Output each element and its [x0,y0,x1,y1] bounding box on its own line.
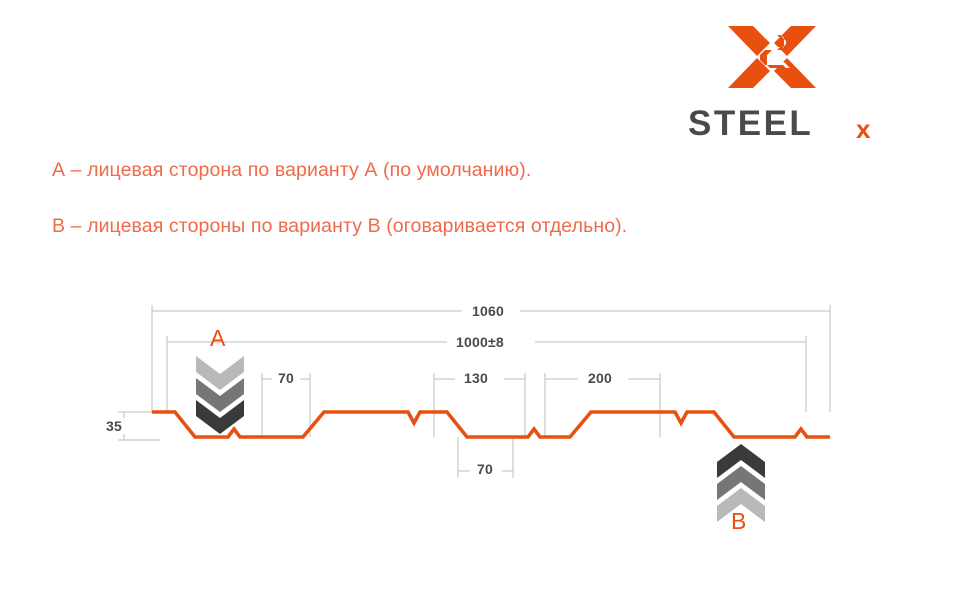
marker-a-letter: А [210,325,225,352]
dimension-label-70-top: 70 [272,370,300,386]
dimension-label-1000: 1000±8 [450,334,510,350]
dimension-label-1060: 1060 [466,303,510,319]
marker-a-chevrons [196,356,244,434]
profile-cross-section [152,412,830,437]
profile-technical-drawing [0,0,970,597]
dimension-label-200: 200 [582,370,618,386]
page-root: STEEL x А – лицевая сторона по варианту … [0,0,970,597]
dimension-label-130: 130 [458,370,494,386]
dimension-label-70-bottom: 70 [471,461,499,477]
marker-b-letter: В [731,508,746,535]
dimension-1060 [152,305,830,412]
dimension-label-35: 35 [100,418,128,434]
